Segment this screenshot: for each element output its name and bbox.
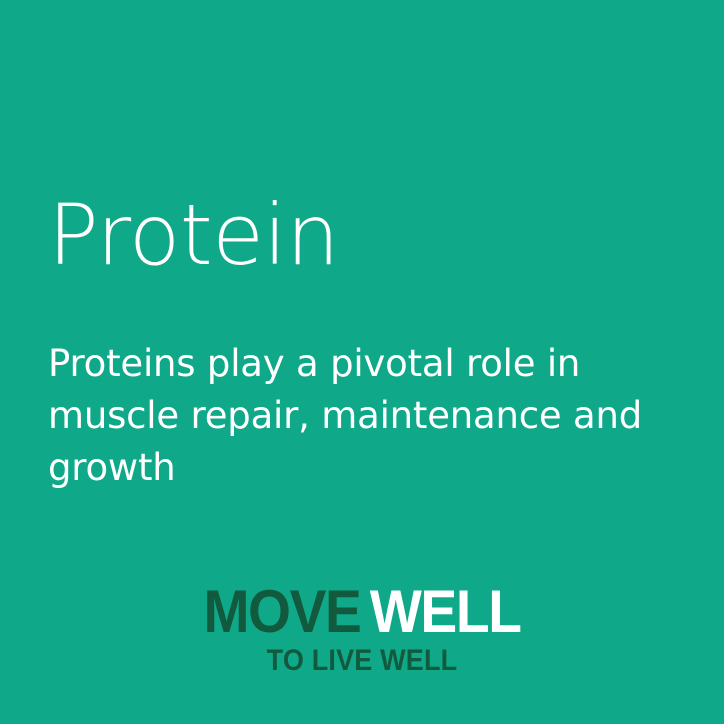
logo-tagline: TO LIVE WELL [36,646,688,676]
logo-wordmark: MOVEWELL [29,584,695,640]
page-title: Protein [48,193,339,277]
logo-word-move: MOVE [203,578,360,645]
promo-card: Protein Proteins play a pivotal role in … [0,0,724,724]
logo-word-well: WELL [370,578,521,645]
brand-logo: MOVEWELL TO LIVE WELL [0,584,724,676]
body-description: Proteins play a pivotal role in muscle r… [48,338,648,494]
